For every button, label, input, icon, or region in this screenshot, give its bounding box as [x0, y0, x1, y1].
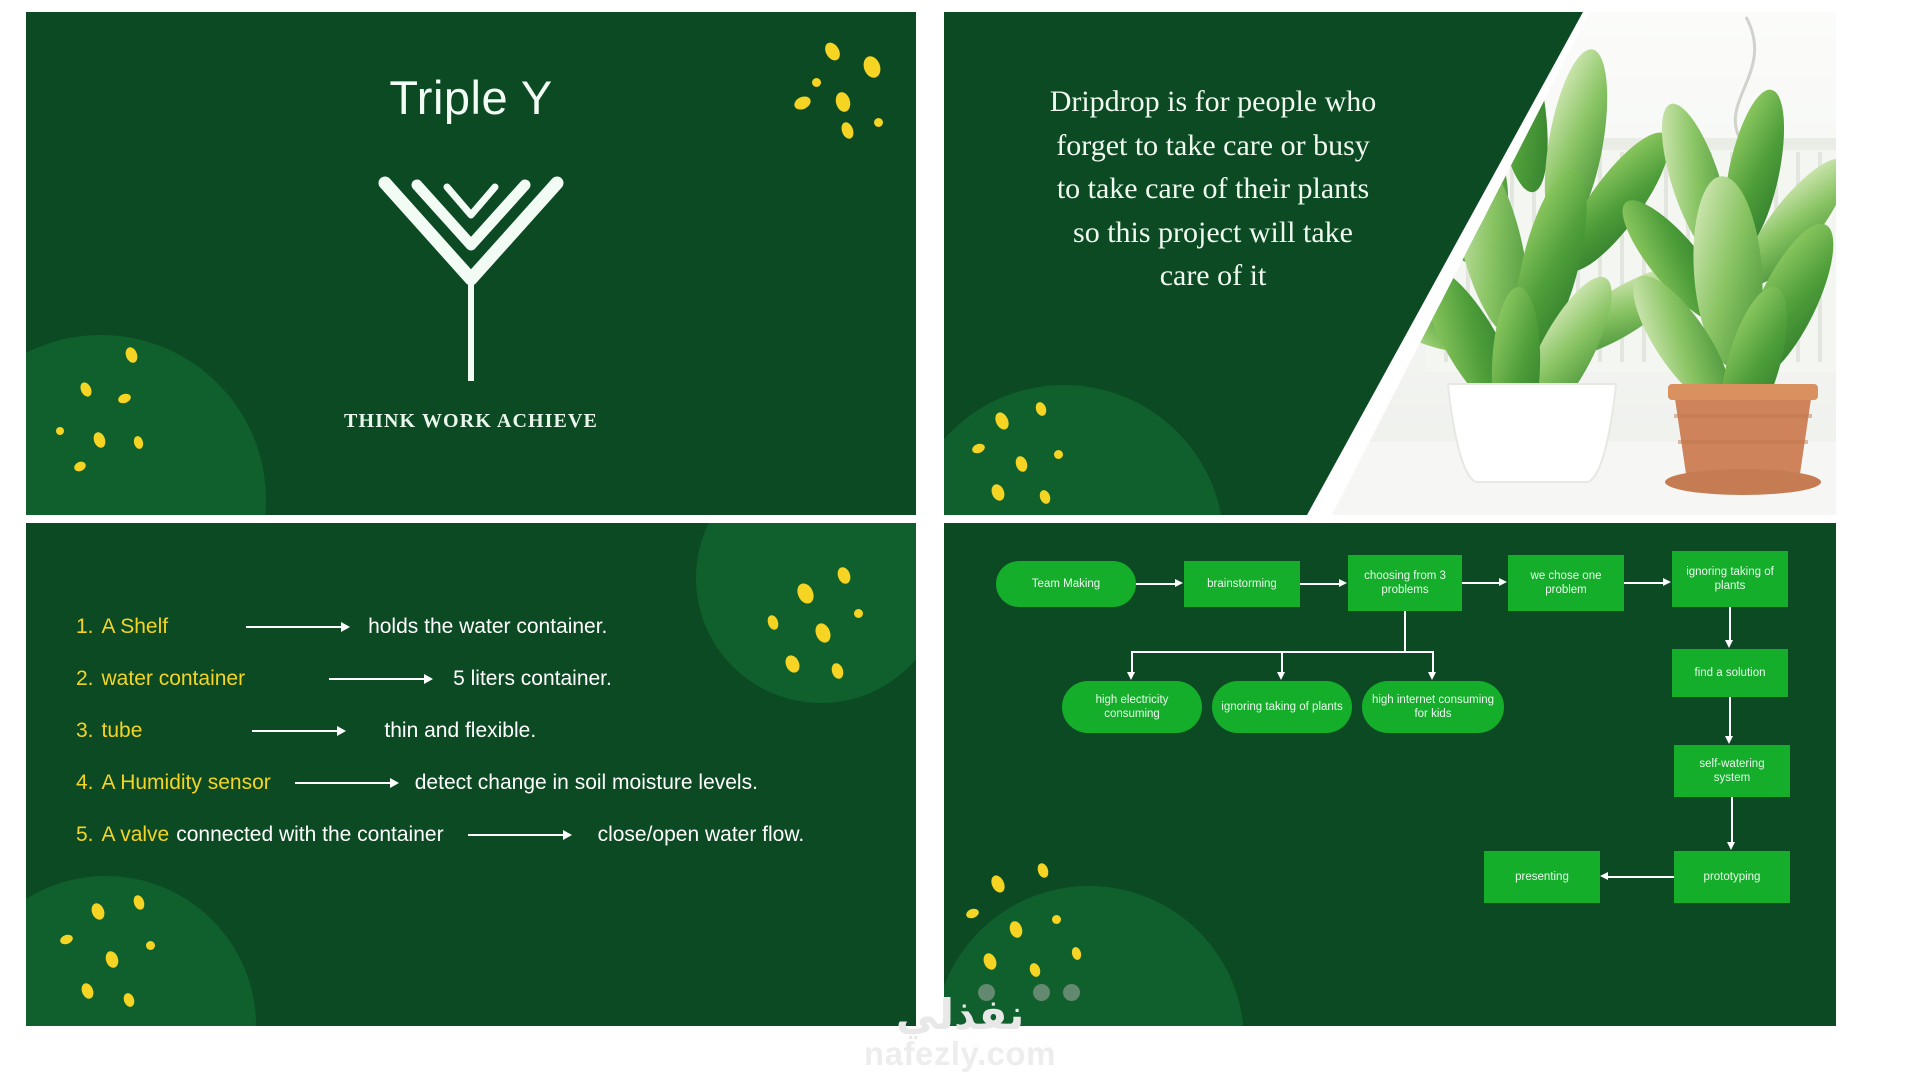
flow-node-prototyping[interactable]: prototyping: [1674, 851, 1790, 903]
flow-node-high-internet[interactable]: high internet consuming for kids: [1362, 681, 1504, 733]
page-title: Triple Y: [389, 74, 552, 121]
flow-connector: [1729, 607, 1731, 641]
arrow-icon: [329, 674, 433, 684]
flow-connector: [1729, 697, 1731, 737]
triple-chevron-y-logo-icon: [371, 125, 571, 392]
list-item-description: thin and flexible.: [384, 719, 536, 743]
arrow-icon: [252, 726, 346, 736]
flow-node-self-watering[interactable]: self-watering system: [1674, 745, 1790, 797]
flow-arrowhead: [1339, 579, 1347, 587]
list-item-description: detect change in soil moisture levels.: [415, 771, 758, 795]
list-item-number: 4.: [76, 771, 94, 795]
flow-connector: [1432, 651, 1434, 673]
flow-arrowhead: [1499, 578, 1507, 586]
list-item-description: 5 liters container.: [453, 667, 612, 691]
decorative-dot: [822, 40, 843, 63]
list-item-component: A Humidity sensor: [102, 771, 271, 795]
flow-arrowhead: [1428, 672, 1436, 680]
statement-line: so this project will take: [978, 211, 1448, 255]
flow-arrowhead: [1277, 672, 1285, 680]
flow-arrowhead: [1127, 672, 1135, 680]
arrow-icon: [295, 778, 399, 788]
list-item-component: A valve: [102, 823, 170, 847]
decorative-circle: [944, 385, 1224, 515]
list-item-component: tube: [102, 719, 143, 743]
list-item-component: water container: [102, 667, 246, 691]
flow-node-team-making[interactable]: Team Making: [996, 561, 1136, 607]
list-item: 2.water container5 liters container.: [76, 667, 892, 691]
list-item-number: 1.: [76, 615, 94, 639]
flow-node-choosing-3[interactable]: choosing from 3 problems: [1348, 555, 1462, 611]
watermark-latin: nafezly.com: [864, 1037, 1056, 1072]
list-item-description: close/open water flow.: [598, 823, 805, 847]
flow-connector: [1300, 583, 1340, 585]
list-item-description: holds the water container.: [368, 615, 607, 639]
flow-arrowhead: [1175, 579, 1183, 587]
components-list: 1.A Shelfholds the water container.2.wat…: [76, 615, 892, 847]
statement-line: care of it: [978, 254, 1448, 298]
flow-arrowhead: [1725, 640, 1733, 648]
flow-node-brainstorming[interactable]: brainstorming: [1184, 561, 1300, 607]
statement-text: Dripdrop is for people whoforget to take…: [978, 80, 1448, 298]
watermark-dot: [1063, 984, 1080, 1001]
slide-flowchart[interactable]: Team Makingbrainstormingchoosing from 3 …: [944, 523, 1836, 1026]
flow-node-presenting[interactable]: presenting: [1484, 851, 1600, 903]
flow-arrowhead: [1600, 872, 1608, 880]
list-item-number: 5.: [76, 823, 94, 847]
watermark-dot: [1033, 984, 1050, 1001]
decorative-dot: [146, 941, 155, 950]
list-item-component-extra: connected with the container: [176, 823, 443, 847]
flow-node-find-solution[interactable]: find a solution: [1672, 649, 1788, 697]
flow-arrowhead: [1663, 578, 1671, 586]
flow-connector: [1136, 583, 1176, 585]
flow-node-ignoring-plants-top[interactable]: ignoring taking of plants: [1672, 551, 1788, 607]
slide-components[interactable]: 1.A Shelfholds the water container.2.wat…: [26, 523, 916, 1026]
flow-connector: [1404, 611, 1406, 651]
logo-lockup: Triple Y: [26, 74, 916, 392]
slide-statement[interactable]: Dripdrop is for people whoforget to take…: [944, 12, 1836, 515]
watermark-dot: [978, 984, 995, 1001]
flow-node-high-electricity[interactable]: high electricity consuming: [1062, 681, 1202, 733]
list-item-number: 3.: [76, 719, 94, 743]
flow-node-chose-one[interactable]: we chose one problem: [1508, 555, 1624, 611]
flow-connector: [1608, 876, 1674, 878]
statement-line: forget to take care or busy: [978, 124, 1448, 168]
flow-arrowhead: [1725, 736, 1733, 744]
list-item-component: A Shelf: [102, 615, 169, 639]
flow-connector: [1131, 651, 1133, 673]
statement-line: to take care of their plants: [978, 167, 1448, 211]
list-item: 5.A valveconnected with the containerclo…: [76, 823, 892, 847]
list-item: 1.A Shelfholds the water container.: [76, 615, 892, 639]
arrow-icon: [246, 622, 350, 632]
decorative-dot: [1054, 450, 1063, 459]
tagline: THINK WORK ACHIEVE: [26, 410, 916, 433]
presentation-contact-sheet: Triple Y THINK WORK ACHIEVE: [0, 0, 1920, 1080]
process-flowchart: Team Makingbrainstormingchoosing from 3 …: [944, 523, 1836, 1026]
flow-connector: [1462, 582, 1500, 584]
list-item: 3. tubethin and flexible.: [76, 719, 892, 743]
flow-connector: [1731, 797, 1733, 843]
flow-connector: [1624, 582, 1664, 584]
flow-node-ignoring-plants-mid[interactable]: ignoring taking of plants: [1212, 681, 1352, 733]
flow-arrowhead: [1727, 842, 1735, 850]
list-item-number: 2.: [76, 667, 94, 691]
list-item: 4.A Humidity sensordetect change in soil…: [76, 771, 892, 795]
flow-connector: [1281, 651, 1283, 673]
arrow-icon: [468, 830, 572, 840]
statement-line: Dripdrop is for people who: [978, 80, 1448, 124]
slide-title[interactable]: Triple Y THINK WORK ACHIEVE: [26, 12, 916, 515]
